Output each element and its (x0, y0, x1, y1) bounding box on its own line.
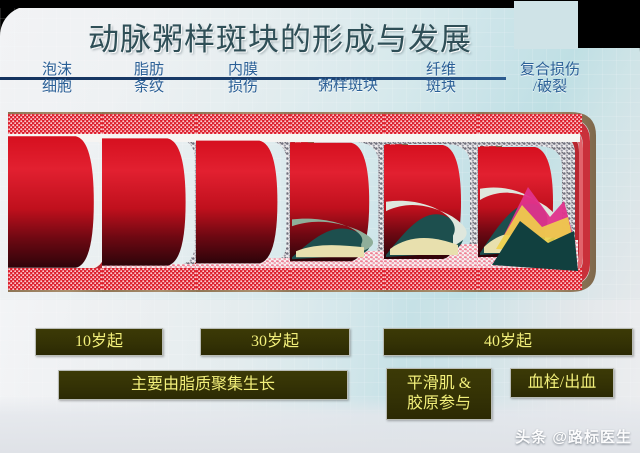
bottom-media-cut-face (478, 268, 582, 290)
caption-box-text: 主要由脂质聚集生长 (131, 375, 275, 395)
caption-box-text: 10岁起 (75, 332, 123, 352)
top-intima-cut-face (478, 134, 580, 142)
top-intima-cut-face (290, 134, 392, 142)
stage-label-line2: 细胞 (20, 79, 94, 96)
stage-label-line1: 脂肪 (134, 62, 164, 78)
top-media-cut-face (196, 114, 300, 134)
stage-label-line2: 损伤 (206, 79, 280, 96)
stage-label-2: 脂肪条纹 (112, 62, 186, 96)
caption-box-text: 平滑肌 &胶原参与 (407, 374, 471, 414)
stage-label-line1: 内膜 (228, 62, 258, 78)
top-media-cut-face (290, 114, 394, 134)
lumen-blood-channel (102, 138, 186, 265)
stage-label-5: 纤维斑块 (404, 62, 478, 96)
bottom-media-cut-face (102, 268, 206, 290)
stage-label-4: 粥样斑块 (296, 78, 400, 95)
bottom-media-cut-face (196, 268, 300, 290)
caption-box-smooth-muscle: 平滑肌 &胶原参与 (386, 368, 492, 420)
lumen-blood-channel (196, 141, 277, 264)
stage-label-line1: 粥样斑块 (318, 78, 378, 94)
artery-progression-diagram (0, 108, 640, 303)
caption-line: 胶原参与 (407, 394, 471, 414)
caption-line: 平滑肌 & (407, 374, 471, 394)
caption-line: 血栓/出血 (528, 373, 596, 393)
bottom-media-cut-face (8, 268, 112, 290)
bottom-media-cut-face (384, 268, 488, 290)
caption-line: 主要由脂质聚集生长 (131, 375, 275, 395)
slide-root: 动脉粥样斑块的形成与发展 泡沫细胞脂肪条纹内膜损伤粥样斑块纤维斑块复合损伤/破裂 (0, 0, 640, 453)
caption-line: 10岁起 (75, 332, 123, 352)
stage-label-line2: 条纹 (112, 79, 186, 96)
stage-label-3: 内膜损伤 (206, 62, 280, 96)
top-intima-cut-face (384, 134, 486, 142)
caption-box-text: 40岁起 (484, 332, 532, 352)
page-title: 动脉粥样斑块的形成与发展 (0, 14, 560, 59)
caption-box-text: 血栓/出血 (528, 373, 596, 393)
stage-label-line1: 复合损伤 (520, 62, 580, 78)
top-media-cut-face (478, 114, 582, 134)
caption-box-age-30: 30岁起 (200, 328, 350, 356)
top-media-cut-face (102, 114, 206, 134)
caption-box-thrombus: 血栓/出血 (510, 368, 614, 398)
stage-label-line1: 纤维 (426, 62, 456, 78)
caption-box-age-40: 40岁起 (383, 328, 633, 356)
lumen-blood-channel (8, 136, 94, 268)
caption-line: 30岁起 (251, 332, 299, 352)
bottom-media-cut-face (290, 268, 394, 290)
artery-segment-6 (478, 112, 596, 292)
watermark: 头条 @路标医生 (515, 426, 632, 447)
caption-line: 40岁起 (484, 332, 532, 352)
caption-box-age-10: 10岁起 (35, 328, 163, 356)
stage-label-line1: 泡沫 (42, 62, 72, 78)
caption-box-text: 30岁起 (251, 332, 299, 352)
stage-label-line2: 斑块 (404, 79, 478, 96)
stage-label-1: 泡沫细胞 (20, 62, 94, 96)
top-media-cut-face (8, 114, 112, 134)
top-media-cut-face (384, 114, 488, 134)
stage-label-6: 复合损伤/破裂 (498, 62, 602, 96)
caption-box-lipid-growth: 主要由脂质聚集生长 (58, 370, 348, 400)
stage-label-line2: /破裂 (498, 79, 602, 96)
artery-svg (0, 108, 640, 303)
